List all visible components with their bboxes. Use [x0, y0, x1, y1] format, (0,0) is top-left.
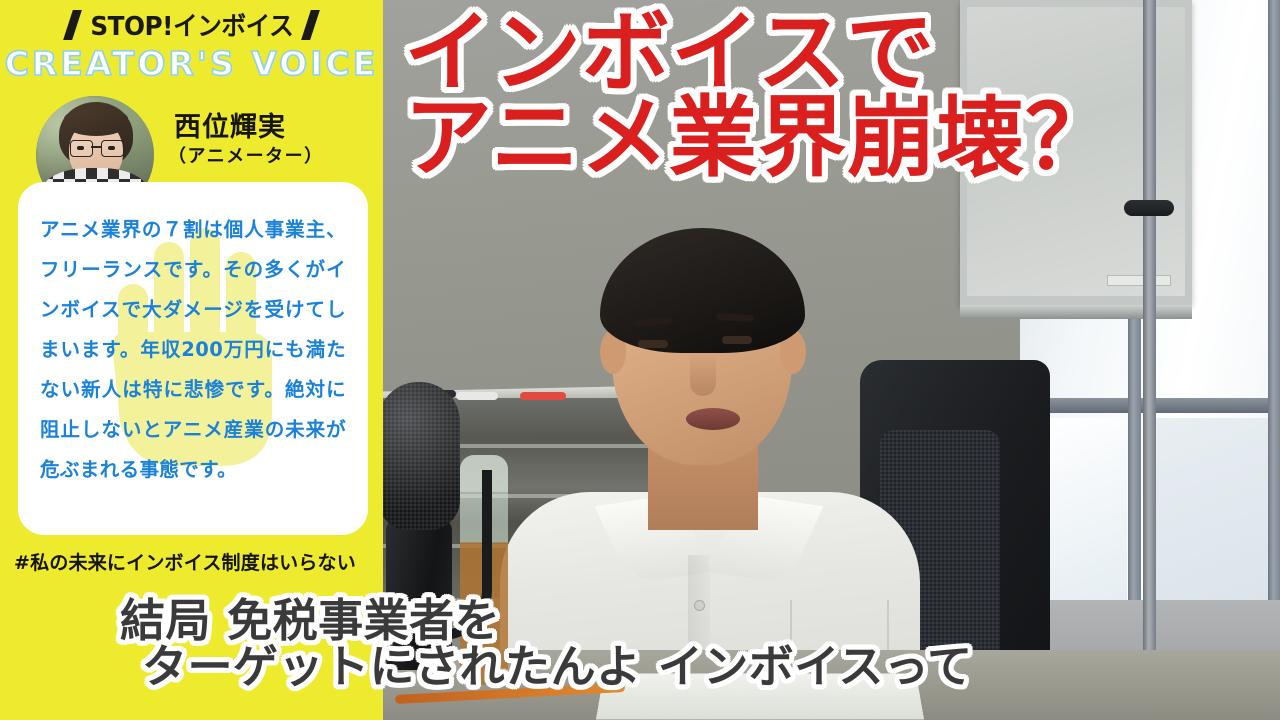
headline-line-2: アニメ業界崩壊？	[404, 86, 1114, 189]
avatar-glasses-bridge	[91, 146, 101, 148]
subtitle-line-2: ターゲットにされたんよ インボイスって	[120, 644, 1220, 690]
person-mouth	[686, 408, 740, 430]
glasses-icon	[70, 140, 122, 155]
person-name: 西位輝実	[174, 105, 286, 144]
quote-card: アニメ業界の７割は個人事業主、フリーランスです。その多くがインボイスで大ダメージ…	[18, 182, 368, 535]
brand-logo-text: STOP!インボイス	[90, 6, 293, 43]
person-eye-left	[638, 340, 668, 348]
video-thumbnail: STOP!インボイス CREATOR'S VOICE	[0, 0, 1280, 720]
person-eye-right	[722, 336, 752, 344]
brand-logo: STOP!インボイス	[0, 6, 383, 43]
person-role: （アニメーター）	[168, 142, 324, 168]
whiteboard-bottom-rail	[960, 305, 1192, 319]
microphone-icon	[378, 382, 460, 530]
page-title: インボイスで アニメ業界崩壊？	[404, 10, 1280, 181]
subtitle-caption: 結局 免税事業者を ターゲットにされたんよ インボイスって	[120, 598, 1220, 690]
avatar-fringe	[64, 110, 128, 136]
marker-white	[456, 392, 498, 400]
quote-text: アニメ業界の７割は個人事業主、フリーランスです。その多くがインボイスで大ダメージ…	[40, 210, 346, 490]
slash-left-icon	[63, 10, 82, 40]
whiteboard-label	[1107, 275, 1171, 286]
slash-right-icon	[301, 10, 320, 40]
avatar-lens-left	[70, 140, 93, 157]
avatar-lens-right	[101, 140, 124, 157]
person-nose	[690, 352, 716, 396]
avatar-eye-left	[77, 146, 84, 150]
whiteboard-knob	[1124, 200, 1174, 216]
marker-red	[520, 392, 566, 400]
series-title: CREATOR'S VOICE	[0, 44, 383, 83]
avatar-eye-right	[108, 146, 115, 150]
hashtag: #私の未来にインボイス制度はいらない	[14, 548, 356, 575]
